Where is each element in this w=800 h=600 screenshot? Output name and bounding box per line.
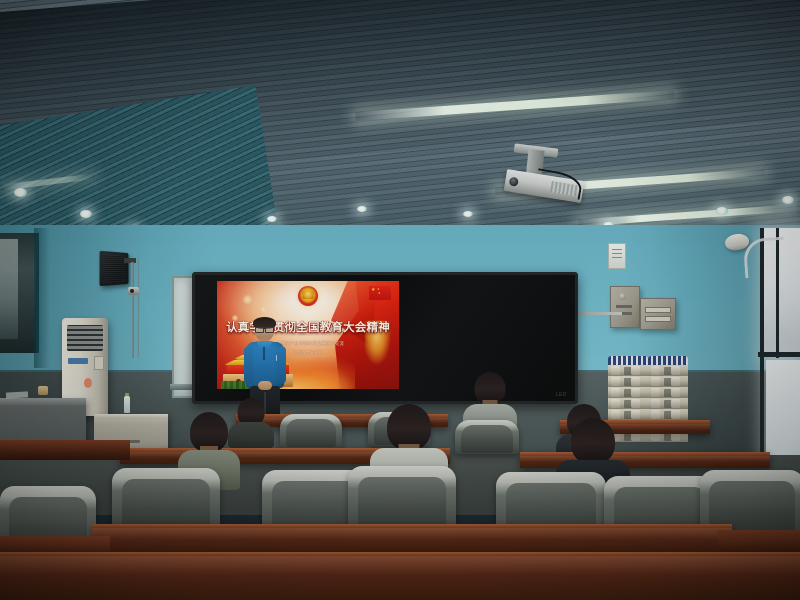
ceiling-troffer-light [355, 90, 675, 121]
display-brand-label: LED [556, 392, 567, 398]
ac-louver-vents [67, 325, 103, 351]
ac-indicator-icon [84, 378, 92, 388]
ceiling-slat-panel [0, 0, 800, 236]
speaker-grill [103, 254, 126, 283]
desk-row-foreground [0, 552, 800, 600]
national-flag-icon: ★ ★ ★ [369, 286, 391, 300]
wall-speaker-left [100, 251, 129, 286]
panel-knob-icon [619, 293, 626, 300]
panel-slot [645, 316, 671, 322]
notice-text-line [612, 253, 622, 254]
seat-back [348, 466, 456, 532]
ceiling-downlight [267, 216, 277, 222]
window-mullion [758, 352, 800, 357]
ceiling-downlight [463, 211, 473, 217]
ac-brand-badge [68, 358, 88, 364]
ceiling-downlight [357, 206, 367, 212]
stacked-chair-layer [608, 365, 648, 376]
chair-stack-top-cushion [648, 356, 688, 365]
stacked-chair-layer [608, 387, 648, 398]
desk-top-surface [0, 398, 86, 405]
notice-text-line [612, 257, 622, 258]
window-pane [0, 239, 18, 339]
attendee-head [571, 418, 615, 464]
seat-back [455, 420, 519, 454]
ac-control-panel[interactable] [94, 356, 104, 370]
presenter-arm-left [244, 346, 253, 384]
stacked-chair-layer [648, 365, 688, 376]
desk-row-front [92, 524, 732, 554]
ceiling-left-section [0, 85, 280, 236]
presenter-hands [258, 381, 272, 390]
panel-slot [645, 307, 671, 313]
panel-slot [616, 305, 632, 308]
water-bottle [124, 396, 130, 413]
wall-notice-sign [608, 243, 626, 269]
stacked-chairs [648, 356, 688, 448]
slide-sparkle [261, 307, 266, 312]
slide-sparkle [232, 315, 238, 321]
ceiling-downlight [782, 196, 794, 204]
bottle-cap [125, 393, 129, 396]
ceiling-downlight [716, 207, 728, 215]
slide-sparkle [243, 295, 252, 304]
national-emblem-icon [298, 286, 318, 306]
chair-stack-top-cushion [608, 356, 648, 365]
projector-lens-icon [509, 177, 519, 187]
attendee-front-left [178, 412, 240, 474]
glasses-icon [255, 327, 274, 331]
paper-on-desk [6, 391, 28, 398]
stacked-chair-layer [648, 376, 688, 387]
presenter-shirt-placket [263, 347, 265, 360]
ceiling-downlight [80, 210, 92, 218]
ceiling-downlight [14, 188, 27, 197]
notice-text-line [612, 249, 622, 250]
stacked-chair-layer [648, 409, 688, 420]
presenter-arm-right [277, 346, 286, 384]
cabinet-top-surface [94, 414, 168, 419]
cable-conduit [131, 262, 134, 358]
seat-back [280, 414, 342, 448]
stacked-chair-layer [608, 376, 648, 387]
electrical-panel [610, 286, 640, 328]
cable-conduit [137, 258, 139, 358]
speaker-bracket [124, 258, 136, 263]
stacked-chair-layer [608, 398, 648, 409]
stacked-chair-layer [648, 398, 688, 409]
mug [38, 386, 48, 395]
classroom-photo-scene: ★ ★ ★ 认真学习贯彻全国教育大会精神 ——精准产业学院教师发展研讨交流 主题… [0, 0, 800, 600]
desk-row-left-segment [0, 440, 130, 460]
wall-corner-shadow [34, 228, 50, 368]
stacked-chair-layer [648, 387, 688, 398]
electrical-box [640, 298, 676, 330]
wall-camera [128, 287, 139, 295]
